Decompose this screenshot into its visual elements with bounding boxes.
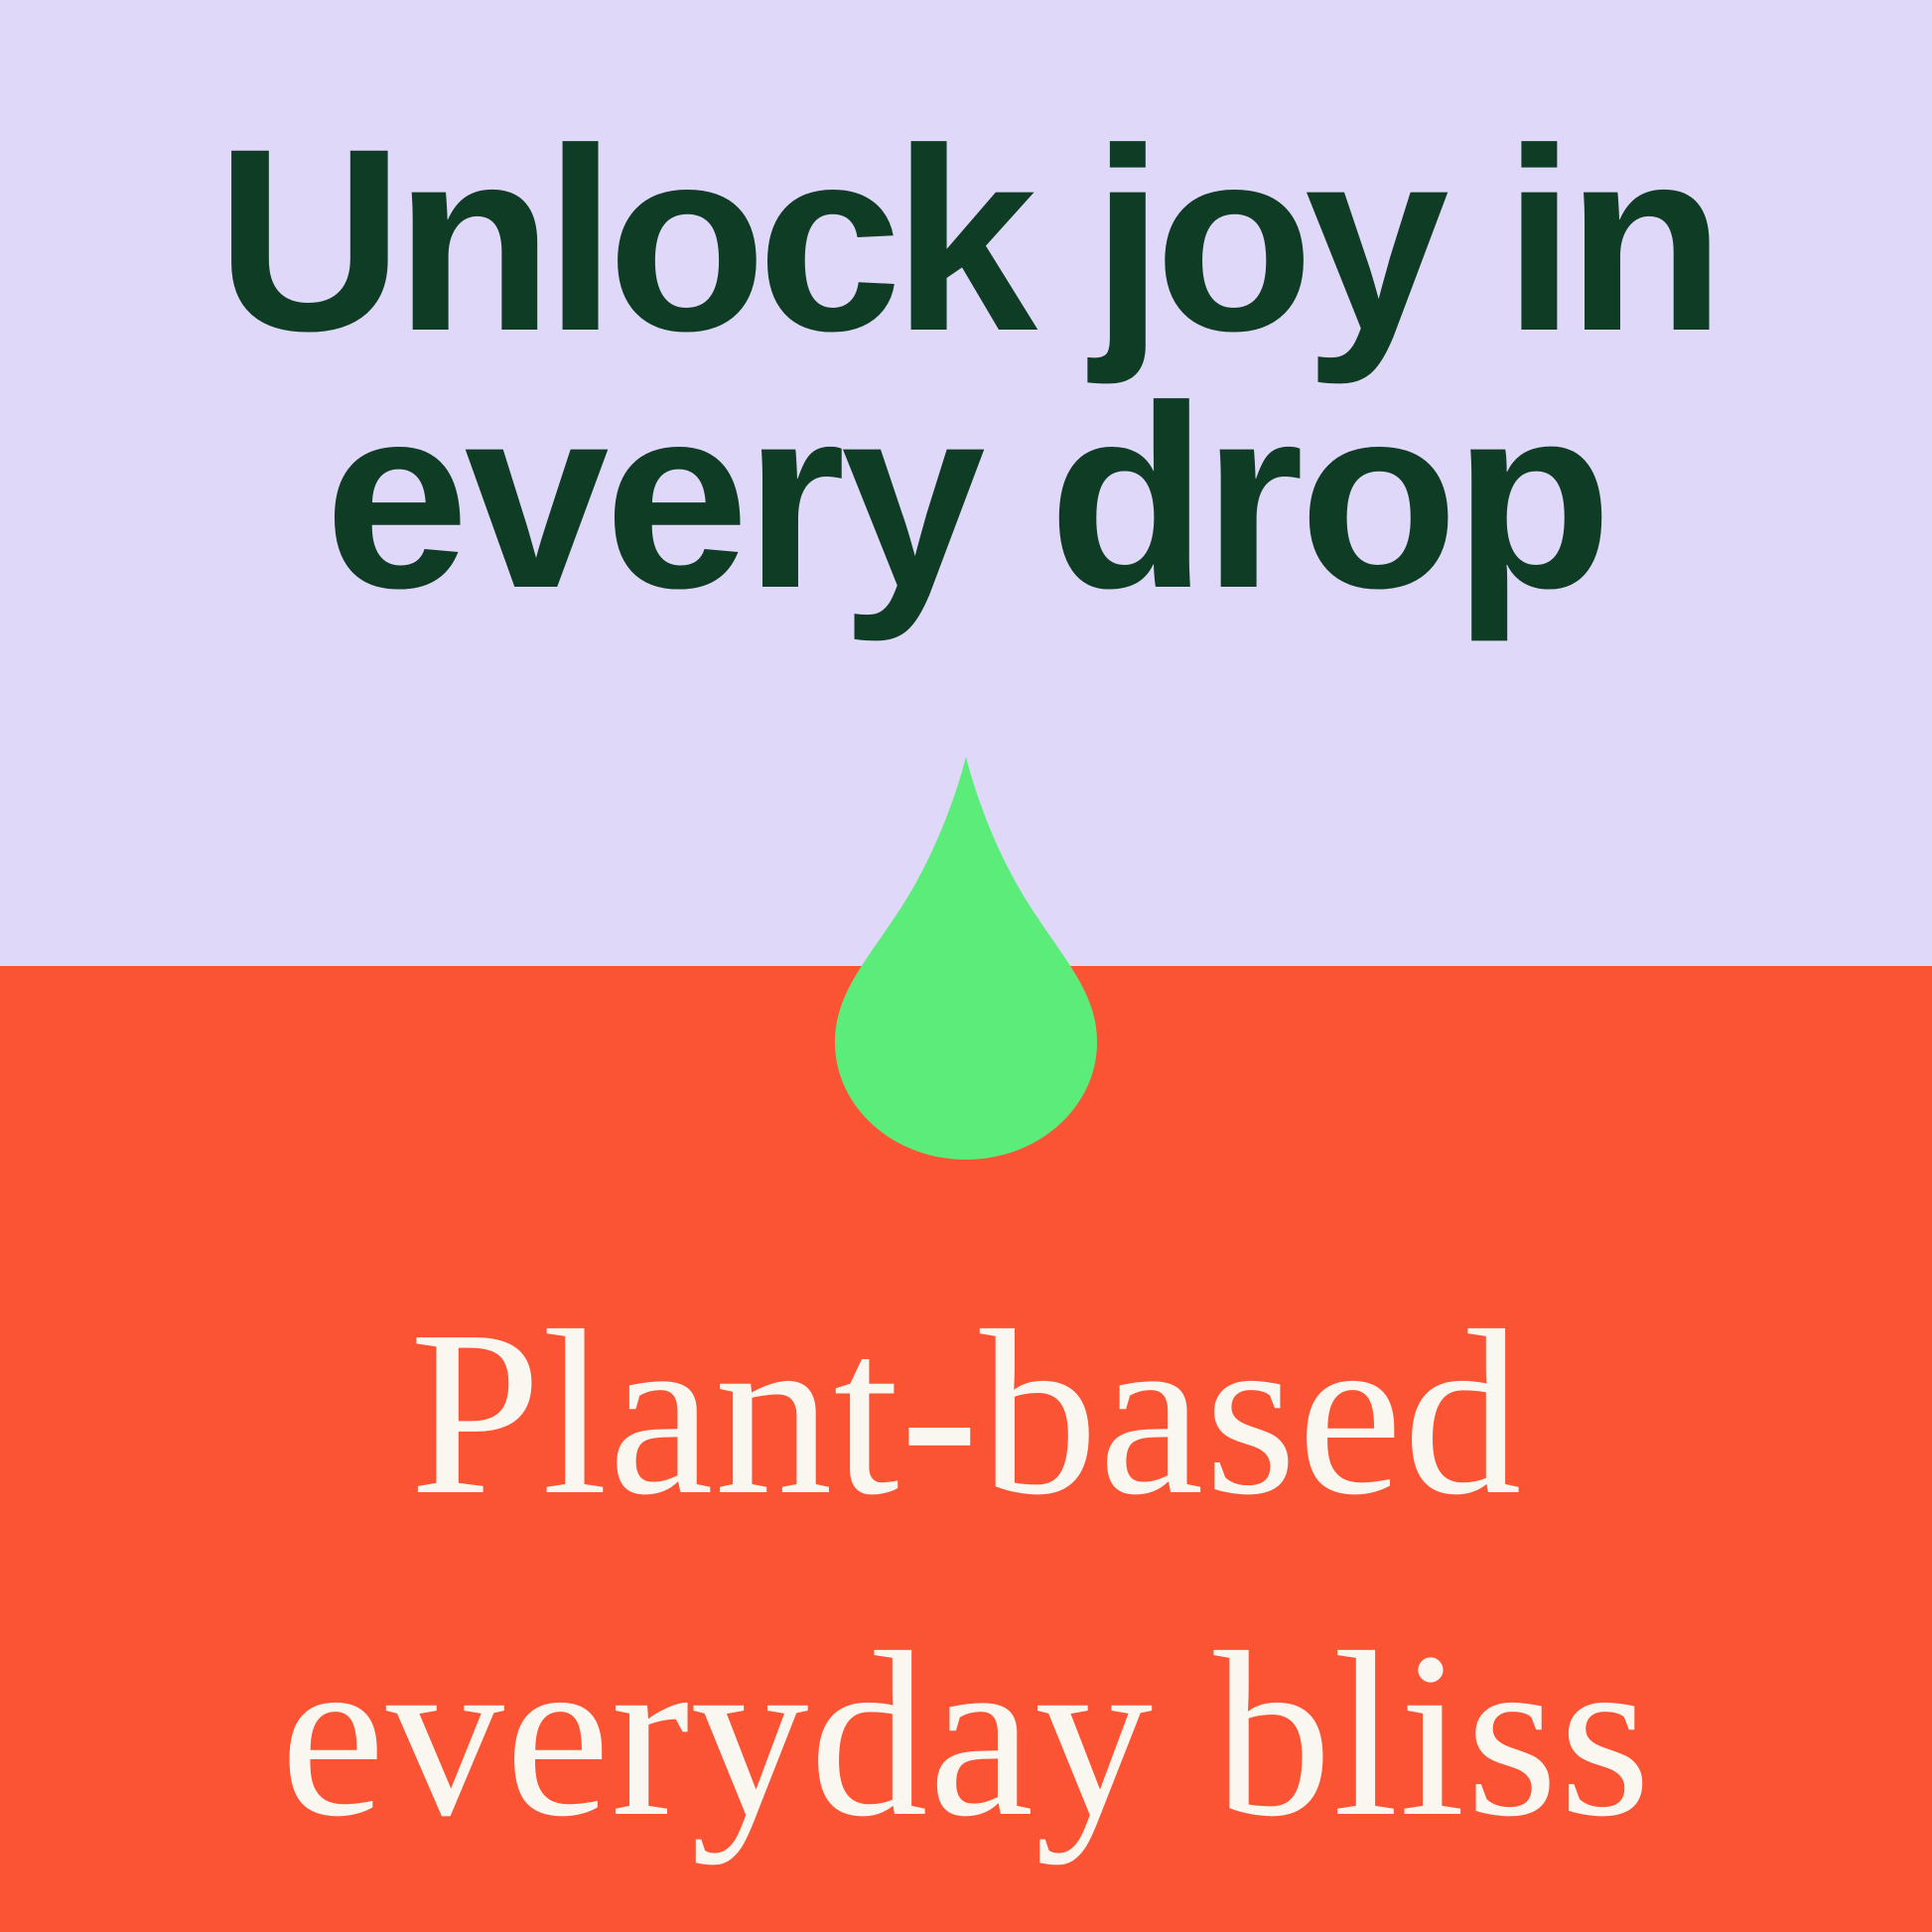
promo-poster: Unlock joy in every drop Plant-based eve… [0, 0, 1932, 1932]
subhead: Plant-based everyday bliss [0, 1253, 1932, 1895]
headline: Unlock joy in every drop [0, 111, 1932, 626]
headline-line-1: Unlock joy in [0, 111, 1932, 368]
headline-line-2: every drop [0, 368, 1932, 625]
subhead-line-1: Plant-based [0, 1253, 1932, 1575]
subhead-line-2: everyday bliss [0, 1575, 1932, 1896]
water-droplet-icon [835, 757, 1097, 1160]
